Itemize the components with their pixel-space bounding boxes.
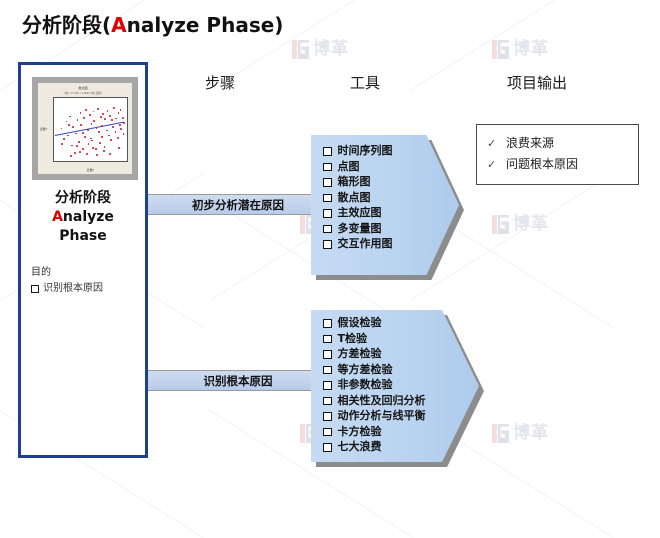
- page-title: 分析阶段(Analyze Phase): [22, 9, 283, 38]
- step-bar-2-label: 识别根本原因: [204, 373, 273, 389]
- checkbox-square-icon: [323, 147, 332, 156]
- tool-item-label: 动作分析与线平衡: [338, 408, 426, 424]
- tool-item[interactable]: 方差检验: [323, 346, 459, 362]
- checkbox-square-icon: [323, 428, 332, 437]
- tools-group-1-list: 时间序列图 点图 箱形图 散点图 主效应图 多变量图 交互作用图: [323, 143, 439, 252]
- page-title-accent: A: [111, 13, 126, 37]
- watermark-bottom-right: 博革: [492, 424, 549, 443]
- purpose-item: 识别根本原因: [31, 282, 139, 296]
- tool-item-label: 多变量图: [338, 221, 382, 237]
- purpose-label: 目的: [31, 265, 139, 280]
- checkbox-square-icon: [31, 285, 39, 293]
- scatter-plot-thumbnail: 散点图 Y轴 = 0.7135 + 0.0023 X轴 变量Y 变量Y 变量X: [32, 77, 138, 180]
- page-title-rest: nalyze Phase): [127, 13, 284, 37]
- checkbox-square-icon: [323, 335, 332, 344]
- tool-item-label: T检验: [338, 331, 368, 347]
- checkbox-square-icon: [323, 443, 332, 452]
- checkbox-square-icon: [323, 412, 332, 421]
- bogo-logo-icon: [292, 40, 309, 59]
- bogo-logo-icon: [492, 424, 509, 443]
- project-output-box: ✓ 浪费来源 ✓ 问题根本原因: [476, 124, 639, 185]
- check-icon: ✓: [487, 133, 497, 154]
- phase-name-cn: 分析阶段: [21, 189, 145, 208]
- phase-name-en-line1: Analyze: [21, 208, 145, 227]
- tool-item-label: 点图: [338, 159, 360, 175]
- tool-item-label: 散点图: [338, 190, 371, 206]
- watermark-text: 博革: [513, 424, 549, 443]
- checkbox-square-icon: [323, 209, 332, 218]
- tool-item[interactable]: 箱形图: [323, 174, 439, 190]
- watermark-right-mid: 博革: [492, 215, 549, 234]
- tool-item[interactable]: 假设检验: [323, 315, 459, 331]
- step-bar-1-label: 初步分析潜在原因: [192, 197, 284, 213]
- plot-frame: [53, 97, 128, 162]
- tool-item[interactable]: 卡方检验: [323, 424, 459, 440]
- column-header-outputs: 项目输出: [507, 72, 567, 93]
- bogo-logo-icon: [492, 40, 509, 59]
- step-bar-1[interactable]: 初步分析潜在原因: [162, 194, 314, 215]
- purpose-item-label: 识别根本原因: [43, 282, 103, 296]
- tool-item[interactable]: 散点图: [323, 190, 439, 206]
- plot-y-axis-label: 变量Y: [40, 127, 47, 131]
- plot-subtitle: Y轴 = 0.7135 + 0.0023 X轴 变量Y: [38, 91, 128, 95]
- phase-name-en-rest: nalyze: [63, 209, 114, 225]
- watermark-text: 博革: [313, 40, 349, 59]
- tool-item-label: 卡方检验: [338, 424, 382, 440]
- tool-item-label: 时间序列图: [338, 143, 393, 159]
- phase-name-block: 分析阶段 Analyze Phase: [21, 189, 145, 246]
- tool-item[interactable]: 非参数检验: [323, 377, 459, 393]
- plot-trendline: [55, 121, 124, 136]
- tool-item-label: 交互作用图: [338, 236, 393, 252]
- tool-item-label: 假设检验: [338, 315, 382, 331]
- output-item: ✓ 浪费来源: [487, 133, 638, 154]
- phase-purpose-block: 目的 识别根本原因: [31, 265, 139, 296]
- tool-item-label: 等方差检验: [338, 362, 393, 378]
- tool-item[interactable]: T检验: [323, 331, 459, 347]
- phase-panel: 散点图 Y轴 = 0.7135 + 0.0023 X轴 变量Y 变量Y 变量X: [18, 62, 148, 458]
- column-header-tools: 工具: [350, 72, 380, 93]
- tools-group-2: 假设检验 T检验 方差检验 等方差检验 非参数检验 相关性及回归分析 动作分析与…: [311, 310, 479, 462]
- watermark-top-right: 博革: [492, 40, 549, 59]
- tool-item[interactable]: 多变量图: [323, 221, 439, 237]
- tool-item[interactable]: 七大浪费: [323, 439, 459, 455]
- checkbox-square-icon: [323, 366, 332, 375]
- tools-group-2-list: 假设检验 T检验 方差检验 等方差检验 非参数检验 相关性及回归分析 动作分析与…: [323, 315, 459, 455]
- plot-canvas: 散点图 Y轴 = 0.7135 + 0.0023 X轴 变量Y 变量Y 变量X: [38, 83, 132, 174]
- checkbox-square-icon: [323, 163, 332, 172]
- checkbox-square-icon: [323, 381, 332, 390]
- output-item: ✓ 问题根本原因: [487, 154, 638, 175]
- tool-item-label: 方差检验: [338, 346, 382, 362]
- checkbox-square-icon: [323, 178, 332, 187]
- tool-item-label: 箱形图: [338, 174, 371, 190]
- connector-step-1: [148, 194, 162, 215]
- checkbox-square-icon: [323, 397, 332, 406]
- checkbox-square-icon: [323, 350, 332, 359]
- checkbox-square-icon: [323, 194, 332, 203]
- phase-name-accent: A: [52, 209, 63, 225]
- output-item-label: 问题根本原因: [506, 154, 578, 175]
- tool-item[interactable]: 点图: [323, 159, 439, 175]
- tool-item-label: 相关性及回归分析: [338, 393, 426, 409]
- watermark-top-center: 博革: [292, 40, 349, 59]
- check-icon: ✓: [487, 154, 497, 175]
- plot-title: 散点图: [38, 86, 128, 90]
- column-header-steps: 步骤: [205, 72, 235, 93]
- page-title-cn: 分析阶段(: [22, 13, 111, 37]
- tools-group-1: 时间序列图 点图 箱形图 散点图 主效应图 多变量图 交互作用图: [311, 135, 459, 275]
- connector-step-2: [148, 370, 162, 391]
- tool-item[interactable]: 主效应图: [323, 205, 439, 221]
- checkbox-square-icon: [323, 319, 332, 328]
- tool-item[interactable]: 相关性及回归分析: [323, 393, 459, 409]
- output-item-label: 浪费来源: [506, 133, 554, 154]
- tool-item[interactable]: 动作分析与线平衡: [323, 408, 459, 424]
- bogo-logo-icon: [492, 215, 509, 234]
- tool-item[interactable]: 等方差检验: [323, 362, 459, 378]
- watermark-text: 博革: [513, 215, 549, 234]
- phase-name-en-line2: Phase: [21, 227, 145, 246]
- plot-x-axis-label: 变量X: [53, 168, 128, 172]
- watermark-text: 博革: [513, 40, 549, 59]
- checkbox-square-icon: [323, 240, 332, 249]
- step-bar-2[interactable]: 识别根本原因: [162, 370, 314, 391]
- tool-item[interactable]: 交互作用图: [323, 236, 439, 252]
- checkbox-square-icon: [323, 225, 332, 234]
- tool-item-label: 非参数检验: [338, 377, 393, 393]
- tool-item-label: 主效应图: [338, 205, 382, 221]
- tool-item-label: 七大浪费: [338, 439, 382, 455]
- tool-item[interactable]: 时间序列图: [323, 143, 439, 159]
